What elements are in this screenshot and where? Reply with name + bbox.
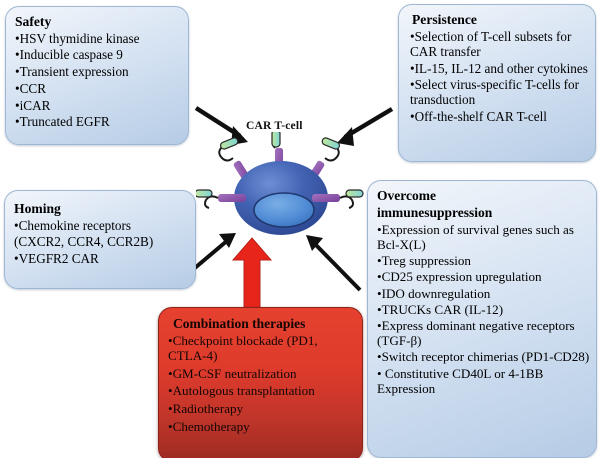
panel-combination-therapies: Combination therapies •Checkpoint blocka… (158, 307, 363, 458)
list-item: •HSV thymidine kinase (15, 31, 182, 46)
panel-safety: Safety •HSV thymidine kinase •Inducible … (5, 6, 189, 145)
list-item: •VEGFR2 CAR (14, 251, 187, 266)
panel-persistence: Persistence •Selection of T-cell subsets… (398, 4, 596, 162)
panel-overcome-immunesuppression: Overcome immunesuppression •Expression o… (367, 180, 597, 458)
panel-persistence-list: •Selection of T-cell subsets for CAR tra… (410, 29, 589, 124)
list-item: •Truncated EGFR (15, 114, 182, 129)
panel-combination-title: Combination therapies (173, 316, 356, 332)
panel-overcome-list: •Expression of survival genes such as Bc… (377, 222, 591, 396)
list-item: •Switch receptor chimerias (PD1-CD28) (377, 349, 591, 364)
panel-homing-title: Homing (14, 201, 187, 217)
list-item-tail: receptors (83, 218, 131, 233)
list-item: •CD25 expression upregulation (377, 269, 591, 284)
panel-safety-list: •HSV thymidine kinase •Inducible caspase… (15, 31, 182, 130)
list-item: • Constitutive CD40L or 4-1BB Expression (377, 366, 591, 396)
car-t-cell-label: CAR T-cell (246, 120, 303, 132)
car-t-cell-illustration (196, 132, 366, 244)
list-item: •IL-15, IL-12 and other cytokines (410, 61, 589, 76)
list-item: •Chemotherapy (168, 419, 356, 434)
list-item: •Transient expression (15, 64, 182, 79)
list-item: •CCR (15, 81, 182, 96)
list-item: •GM-CSF neutralization (168, 366, 356, 381)
list-item: •IDO downregulation (377, 286, 591, 301)
list-item: •Chemokine receptors (14, 218, 187, 233)
list-item-lead: •Chemokine (14, 218, 79, 233)
panel-homing: Homing •Chemokine receptors (CXCR2, CCR4… (4, 190, 196, 289)
list-item: •Checkpoint blockade (PD1, CTLA-4) (168, 333, 356, 363)
list-item: •Select virus-specific T-cells for trans… (410, 77, 589, 108)
panel-overcome-title-line1: Overcome (377, 188, 591, 204)
list-item: •Autologous transplantation (168, 383, 356, 398)
list-item: (CXCR2, CCR4, CCR2B) (14, 234, 187, 249)
list-item: •Treg suppression (377, 253, 591, 268)
panel-combination-list: •Checkpoint blockade (PD1, CTLA-4) •GM-C… (168, 333, 356, 435)
diagram-canvas: CAR T-cell (0, 0, 600, 458)
panel-homing-list: •Chemokine receptors (CXCR2, CCR4, CCR2B… (14, 218, 187, 267)
list-item: •Expression of survival genes such as Bc… (377, 222, 591, 252)
list-item: •Off-the-shelf CAR T-cell (410, 109, 589, 124)
list-item: •TRUCKs CAR (IL-12) (377, 302, 591, 317)
list-item: •Inducible caspase 9 (15, 47, 182, 62)
panel-safety-title: Safety (15, 14, 182, 30)
arrow-combination-to-cell (233, 238, 271, 310)
list-item: •Selection of T-cell subsets for CAR tra… (410, 29, 589, 60)
panel-overcome-title-line2: immunesuppression (377, 205, 591, 221)
list-item: •Express dominant negative receptors (TG… (377, 318, 591, 348)
panel-persistence-title: Persistence (412, 12, 589, 28)
cell-nucleus (254, 193, 314, 227)
list-item: •Radiotherapy (168, 401, 356, 416)
list-item: •iCAR (15, 98, 182, 113)
